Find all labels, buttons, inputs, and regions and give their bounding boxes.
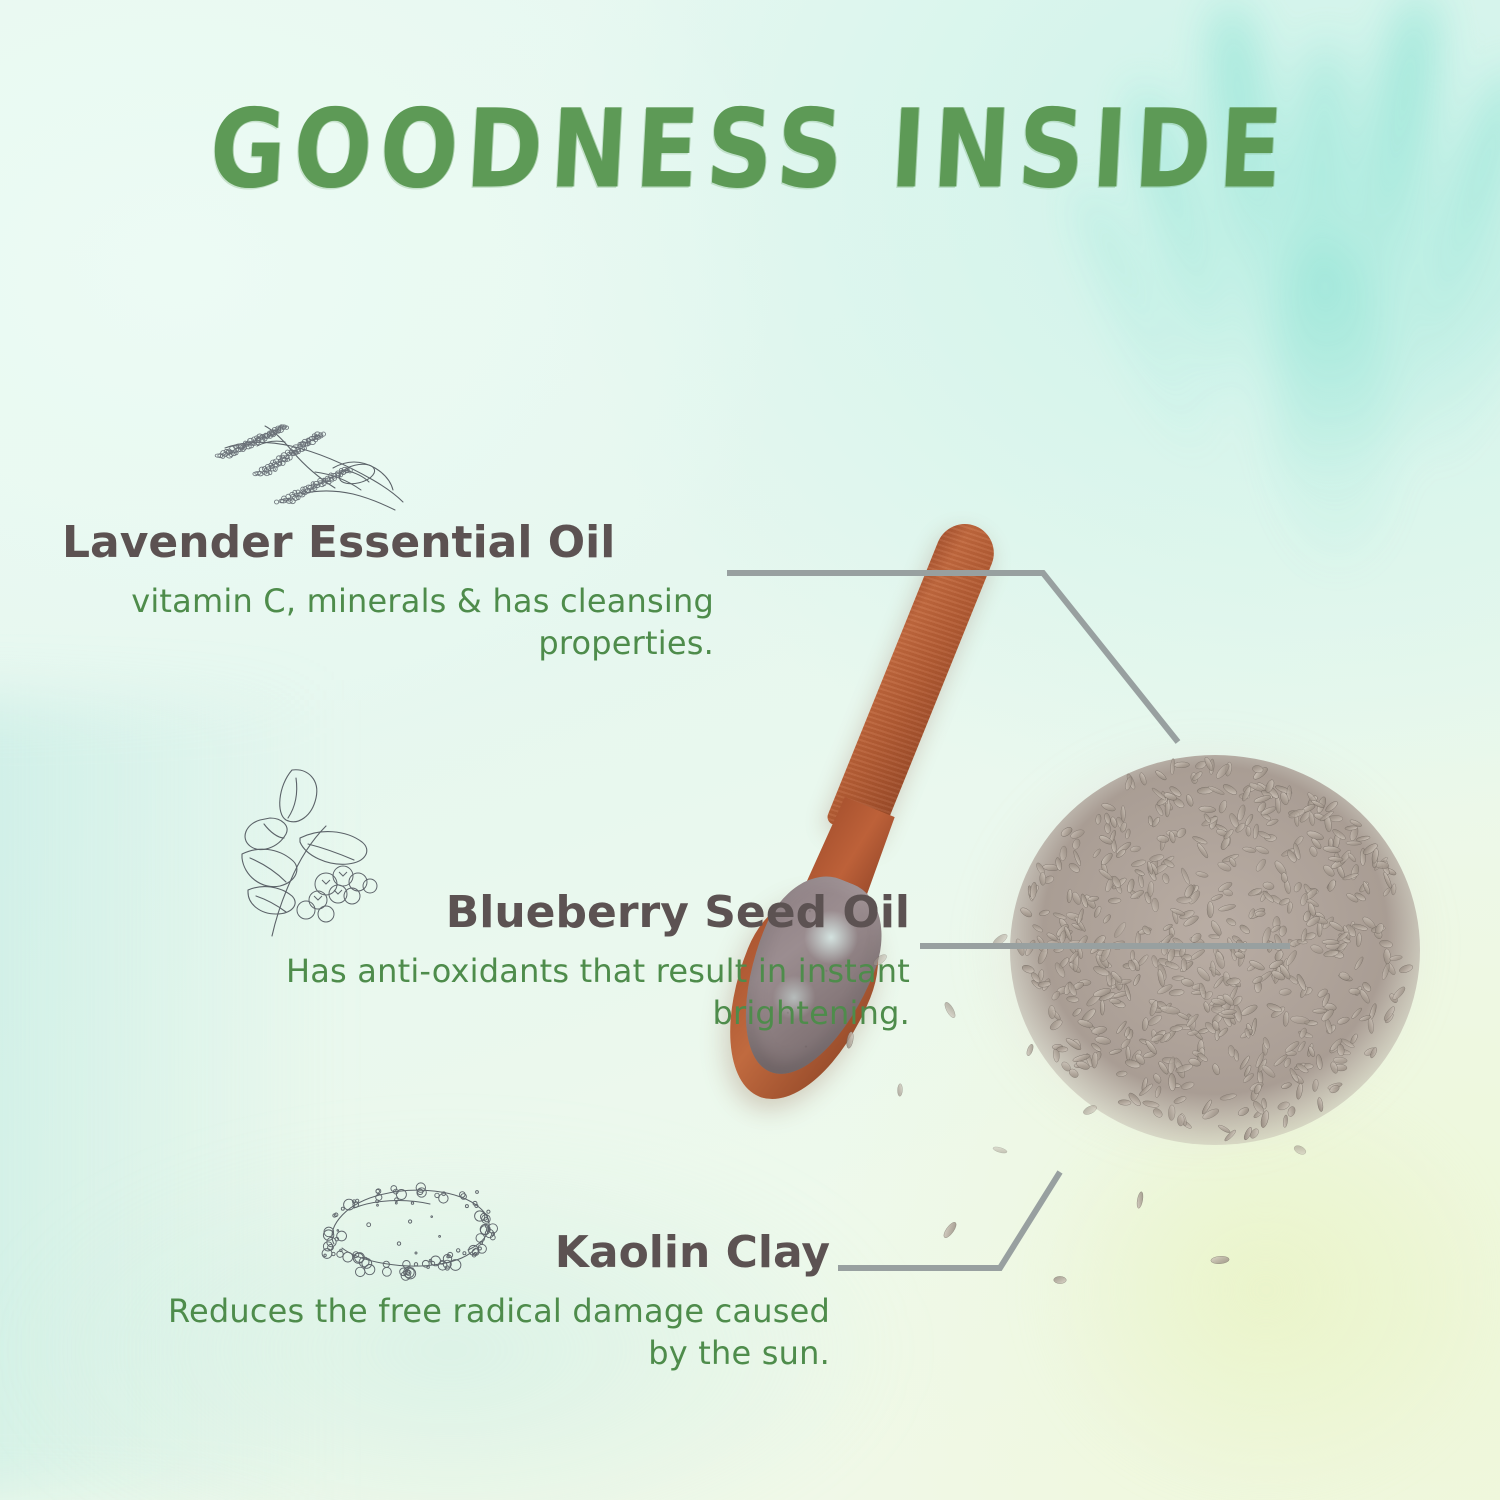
ingredient-kaolin-description: Reduces the free radical damage caused b… [160,1276,830,1374]
lavender-sprig-icon [205,398,420,523]
ingredient-lavender-name: Lavender Essential Oil [62,520,722,566]
ingredient-kaolin: Kaolin Clay Reduces the free radical dam… [160,1230,830,1375]
ingredient-blueberry: Blueberry Seed Oil Has anti-oxidants tha… [120,890,910,1035]
product-photo [820,520,1500,1420]
page-title: GOODNESS INSIDE [0,86,1500,212]
ingredient-blueberry-description: Has anti-oxidants that result in instant… [120,936,910,1034]
ingredient-blueberry-name: Blueberry Seed Oil [120,890,910,936]
ingredient-lavender-description: vitamin C, minerals & has cleansing prop… [62,566,722,664]
spoon-handle [825,515,1002,843]
ingredient-kaolin-name: Kaolin Clay [160,1230,830,1276]
ingredient-lavender: Lavender Essential Oil vitamin C, minera… [62,520,722,665]
poster-canvas: GOODNESS INSIDE [0,0,1500,1500]
